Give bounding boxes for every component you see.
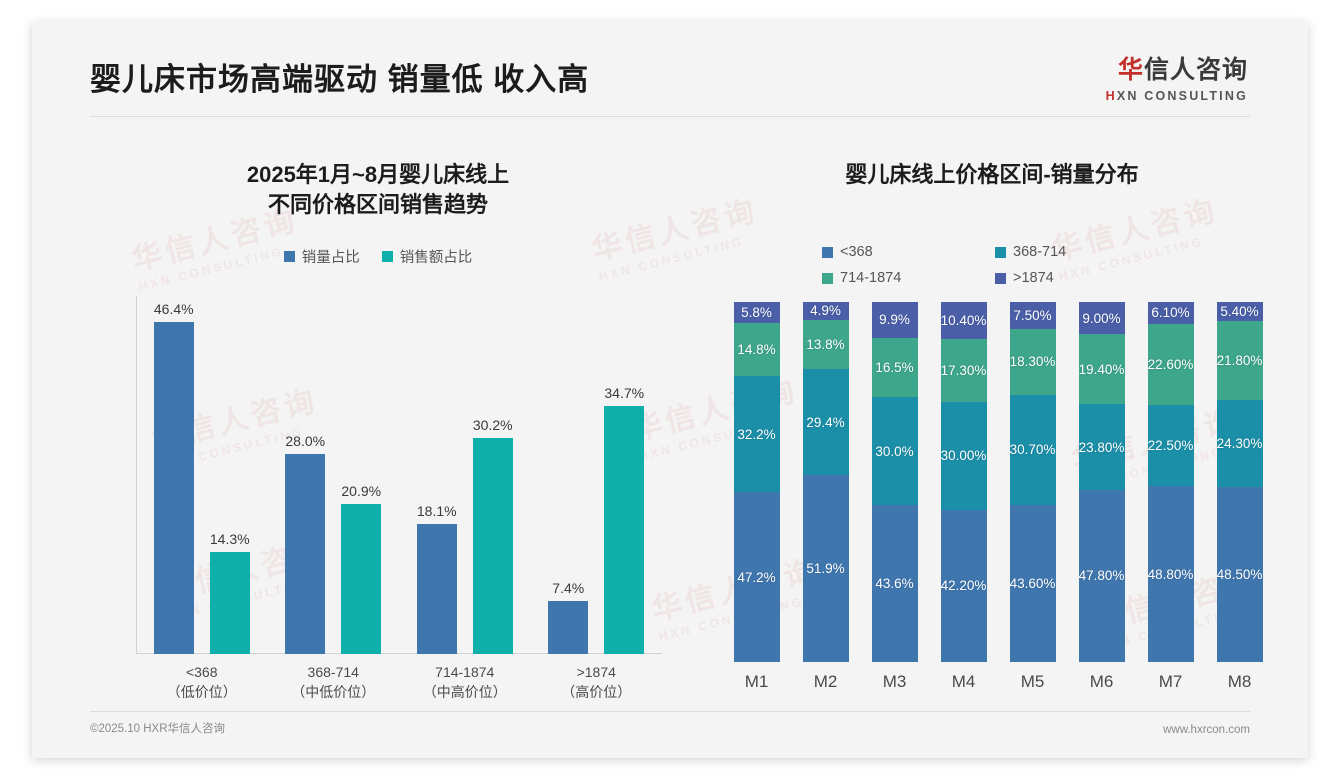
segment-368-714[interactable]: 24.30%: [1217, 400, 1263, 487]
segment-label: 24.30%: [1217, 436, 1263, 451]
bar-slot: 14.3%: [210, 296, 250, 654]
segment-label: 47.2%: [737, 570, 775, 585]
x-tick-range: 368-714: [268, 662, 400, 682]
x-tick-m6: M6: [1067, 672, 1136, 692]
segment-label: 9.00%: [1082, 311, 1120, 326]
legend-swatch-blue: [284, 251, 295, 262]
segment-lt368[interactable]: 48.50%: [1217, 487, 1263, 662]
legend-item-368-714[interactable]: 368-714: [995, 244, 1152, 260]
segment-gt1874[interactable]: 6.10%: [1148, 302, 1194, 324]
legend-label: 销量占比: [302, 246, 360, 267]
segment-label: 9.9%: [879, 312, 910, 327]
segment-label: 42.20%: [941, 578, 987, 593]
bar-slot: 30.2%: [473, 296, 513, 654]
bar-slot: 7.4%: [548, 296, 588, 654]
segment-label: 13.8%: [806, 337, 844, 352]
segment-label: 4.9%: [810, 303, 841, 318]
segment-gt1874[interactable]: 10.40%: [941, 302, 987, 339]
stacked-bar-m2[interactable]: 4.9% 13.8% 29.4% 51.9%: [803, 302, 849, 662]
stacked-bar-m3[interactable]: 9.9% 16.5% 30.0% 43.6%: [872, 302, 918, 662]
stacked-bar-m1[interactable]: 5.8% 14.8% 32.2% 47.2%: [734, 302, 780, 662]
bar-group: 46.4% 14.3%: [136, 296, 268, 654]
segment-gt1874[interactable]: 9.00%: [1079, 302, 1125, 334]
stacked-bar-m7[interactable]: 6.10% 22.60% 22.50% 48.80%: [1148, 302, 1194, 662]
stack-column: 4.9% 13.8% 29.4% 51.9%: [791, 302, 860, 662]
stacked-bar-plot: 5.8% 14.8% 32.2% 47.2% 4.9% 13.8% 29.4% …: [722, 302, 1274, 662]
segment-gt1874[interactable]: 4.9%: [803, 302, 849, 320]
logo-en-h: H: [1106, 89, 1117, 103]
bar-slot: 18.1%: [417, 296, 457, 654]
legend-label: <368: [840, 244, 873, 260]
segment-lt368[interactable]: 43.60%: [1010, 505, 1056, 662]
stacked-bar-m5[interactable]: 7.50% 18.30% 30.70% 43.60%: [1010, 302, 1056, 662]
bar-group: 7.4% 34.7%: [531, 296, 663, 654]
bar-slot: 34.7%: [604, 296, 644, 654]
bar-volume[interactable]: 18.1%: [417, 524, 457, 654]
legend-item-sales-revenue[interactable]: 销售额占比: [382, 246, 473, 267]
legend-swatch-indigo: [995, 273, 1006, 284]
segment-368-714[interactable]: 30.70%: [1010, 395, 1056, 505]
stack-column: 6.10% 22.60% 22.50% 48.80%: [1136, 302, 1205, 662]
segment-label: 43.60%: [1010, 576, 1056, 591]
x-tick-group: 714-1874 （中高价位）: [399, 662, 531, 703]
x-tick-sub: （高价位）: [531, 682, 663, 702]
segment-714-1874[interactable]: 16.5%: [872, 338, 918, 397]
stacked-bar-m6[interactable]: 9.00% 19.40% 23.80% 47.80%: [1079, 302, 1125, 662]
bar-value-label: 18.1%: [417, 503, 457, 519]
segment-label: 16.5%: [875, 360, 913, 375]
legend-label: 368-714: [1013, 244, 1066, 260]
x-tick-m4: M4: [929, 672, 998, 692]
segment-label: 7.50%: [1013, 308, 1051, 323]
stacked-bar-m4[interactable]: 10.40% 17.30% 30.00% 42.20%: [941, 302, 987, 662]
x-tick-group: 368-714 （中低价位）: [268, 662, 400, 703]
page-title: 婴儿床市场高端驱动 销量低 收入高: [90, 54, 589, 99]
legend-right: <368 368-714 714-1874 >1874: [822, 244, 1152, 286]
segment-label: 30.70%: [1010, 442, 1056, 457]
segment-label: 48.50%: [1217, 567, 1263, 582]
segment-368-714[interactable]: 32.2%: [734, 376, 780, 492]
segment-gt1874[interactable]: 9.9%: [872, 302, 918, 338]
segment-label: 17.30%: [941, 363, 987, 378]
header-divider: [90, 116, 1250, 117]
stack-column: 9.9% 16.5% 30.0% 43.6%: [860, 302, 929, 662]
x-tick-sub: （中低价位）: [268, 682, 400, 702]
slide-header: 婴儿床市场高端驱动 销量低 收入高 华信人咨询 HXN CONSULTING: [32, 22, 1308, 118]
segment-gt1874[interactable]: 5.40%: [1217, 302, 1263, 321]
segment-lt368[interactable]: 48.80%: [1148, 486, 1194, 662]
segment-368-714[interactable]: 22.50%: [1148, 405, 1194, 486]
legend-swatch-teal: [382, 251, 393, 262]
logo-en-rest: XN CONSULTING: [1117, 89, 1248, 103]
bar-volume[interactable]: 28.0%: [285, 454, 325, 654]
x-tick-group: <368 （低价位）: [136, 662, 268, 703]
bar-revenue[interactable]: 34.7%: [604, 406, 644, 654]
stack-column: 9.00% 19.40% 23.80% 47.80%: [1067, 302, 1136, 662]
logo-chinese: 华信人咨询: [1106, 58, 1248, 83]
segment-label: 51.9%: [806, 561, 844, 576]
segment-714-1874[interactable]: 18.30%: [1010, 329, 1056, 395]
segment-lt368[interactable]: 42.20%: [941, 510, 987, 662]
chart-panel-left: 2025年1月~8月婴儿床线上 不同价格区间销售趋势 销量占比 销售额占比 46…: [78, 134, 678, 714]
bar-revenue[interactable]: 20.9%: [341, 504, 381, 654]
segment-714-1874[interactable]: 17.30%: [941, 339, 987, 401]
segment-lt368[interactable]: 47.80%: [1079, 490, 1125, 662]
segment-lt368[interactable]: 47.2%: [734, 492, 780, 662]
segment-label: 10.40%: [941, 313, 987, 328]
logo-char-hua: 华: [1118, 56, 1144, 84]
x-tick-range: 714-1874: [399, 662, 531, 682]
logo-chinese-rest: 信人咨询: [1144, 56, 1248, 84]
bar-slot: 46.4%: [154, 296, 194, 654]
bar-value-label: 30.2%: [473, 417, 513, 433]
legend-label: 销售额占比: [400, 246, 473, 267]
brand-logo: 华信人咨询 HXN CONSULTING: [1106, 58, 1248, 103]
footer-divider: [90, 711, 1250, 712]
segment-label: 22.50%: [1148, 438, 1194, 453]
x-tick-range: >1874: [531, 662, 663, 682]
bar-group: 18.1% 30.2%: [399, 296, 531, 654]
x-tick-m5: M5: [998, 672, 1067, 692]
legend-item-gt1874[interactable]: >1874: [995, 270, 1152, 286]
segment-label: 22.60%: [1148, 357, 1194, 372]
bar-slot: 20.9%: [341, 296, 381, 654]
x-tick-m3: M3: [860, 672, 929, 692]
segment-lt368[interactable]: 51.9%: [803, 475, 849, 662]
segment-label: 14.8%: [737, 342, 775, 357]
legend-item-lt368[interactable]: <368: [822, 244, 979, 260]
grouped-bar-plot: 46.4% 14.3% 28.0%: [136, 296, 662, 654]
bar-value-label: 7.4%: [552, 580, 584, 596]
legend-item-sales-volume[interactable]: 销量占比: [284, 246, 360, 267]
segment-lt368[interactable]: 43.6%: [872, 505, 918, 662]
segment-714-1874[interactable]: 19.40%: [1079, 334, 1125, 404]
x-tick-m1: M1: [722, 672, 791, 692]
segment-714-1874[interactable]: 13.8%: [803, 320, 849, 370]
segment-label: 30.0%: [875, 444, 913, 459]
logo-english: HXN CONSULTING: [1106, 90, 1248, 103]
segment-368-714[interactable]: 29.4%: [803, 369, 849, 475]
x-tick-m8: M8: [1205, 672, 1274, 692]
bar-value-label: 14.3%: [210, 531, 250, 547]
bar-revenue[interactable]: 14.3%: [210, 552, 250, 654]
segment-368-714[interactable]: 30.0%: [872, 397, 918, 505]
x-tick-range: <368: [136, 662, 268, 682]
segment-label: 5.40%: [1220, 304, 1258, 319]
footer-copyright: ©2025.10 HXR华信人咨询: [90, 720, 225, 736]
x-tick-sub: （低价位）: [136, 682, 268, 702]
segment-label: 47.80%: [1079, 568, 1125, 583]
segment-label: 21.80%: [1217, 353, 1263, 368]
segment-label: 43.6%: [875, 576, 913, 591]
segment-gt1874[interactable]: 7.50%: [1010, 302, 1056, 329]
chart-panel-right: 婴儿床线上价格区间-销量分布 <368 368-714 714-1874 >18…: [692, 134, 1292, 714]
x-tick-group: >1874 （高价位）: [531, 662, 663, 703]
bar-value-label: 34.7%: [604, 385, 644, 401]
segment-714-1874[interactable]: 21.80%: [1217, 321, 1263, 399]
x-axis-labels-right: M1 M2 M3 M4 M5 M6 M7 M8: [722, 672, 1274, 692]
legend-label: >1874: [1013, 270, 1054, 286]
segment-label: 18.30%: [1010, 354, 1056, 369]
segment-368-714[interactable]: 30.00%: [941, 402, 987, 510]
segment-gt1874[interactable]: 5.8%: [734, 302, 780, 323]
stack-column: 7.50% 18.30% 30.70% 43.60%: [998, 302, 1067, 662]
segment-label: 23.80%: [1079, 440, 1125, 455]
stack-column: 5.40% 21.80% 24.30% 48.50%: [1205, 302, 1274, 662]
legend-label: 714-1874: [840, 270, 901, 286]
x-tick-m7: M7: [1136, 672, 1205, 692]
segment-label: 29.4%: [806, 415, 844, 430]
x-tick-sub: （中高价位）: [399, 682, 531, 702]
chart-title-left: 2025年1月~8月婴儿床线上 不同价格区间销售趋势: [78, 160, 678, 219]
chart-title-left-line2: 不同价格区间销售趋势: [78, 190, 678, 220]
x-axis-labels-left: <368 （低价位） 368-714 （中低价位） 714-1874 （中高价位…: [136, 662, 662, 703]
segment-714-1874[interactable]: 14.8%: [734, 323, 780, 376]
chart-title-left-line1: 2025年1月~8月婴儿床线上: [78, 160, 678, 190]
footer-website[interactable]: www.hxrcon.com: [1163, 724, 1250, 736]
stacked-bar-m8[interactable]: 5.40% 21.80% 24.30% 48.50%: [1217, 302, 1263, 662]
bar-slot: 28.0%: [285, 296, 325, 654]
bar-groups: 46.4% 14.3% 28.0%: [136, 296, 662, 654]
segment-label: 48.80%: [1148, 567, 1194, 582]
segment-label: 30.00%: [941, 448, 987, 463]
bar-volume[interactable]: 46.4%: [154, 322, 194, 654]
bar-volume[interactable]: 7.4%: [548, 601, 588, 654]
chart-title-right: 婴儿床线上价格区间-销量分布: [692, 160, 1292, 190]
bar-value-label: 28.0%: [285, 433, 325, 449]
bar-group: 28.0% 20.9%: [268, 296, 400, 654]
bar-revenue[interactable]: 30.2%: [473, 438, 513, 654]
bar-value-label: 46.4%: [154, 301, 194, 317]
legend-swatch-blue: [822, 247, 833, 258]
legend-swatch-green: [822, 273, 833, 284]
x-tick-m2: M2: [791, 672, 860, 692]
segment-label: 32.2%: [737, 427, 775, 442]
segment-368-714[interactable]: 23.80%: [1079, 404, 1125, 490]
segment-714-1874[interactable]: 22.60%: [1148, 324, 1194, 405]
stack-column: 5.8% 14.8% 32.2% 47.2%: [722, 302, 791, 662]
legend-swatch-teal: [995, 247, 1006, 258]
segment-label: 19.40%: [1079, 362, 1125, 377]
legend-item-714-1874[interactable]: 714-1874: [822, 270, 979, 286]
slide: 华信人咨询HXN CONSULTING 华信人咨询HXN CONSULTING …: [32, 22, 1308, 758]
bar-value-label: 20.9%: [341, 483, 381, 499]
segment-label: 6.10%: [1151, 305, 1189, 320]
segment-label: 5.8%: [741, 305, 772, 320]
legend-left: 销量占比 销售额占比: [78, 246, 678, 267]
stack-column: 10.40% 17.30% 30.00% 42.20%: [929, 302, 998, 662]
